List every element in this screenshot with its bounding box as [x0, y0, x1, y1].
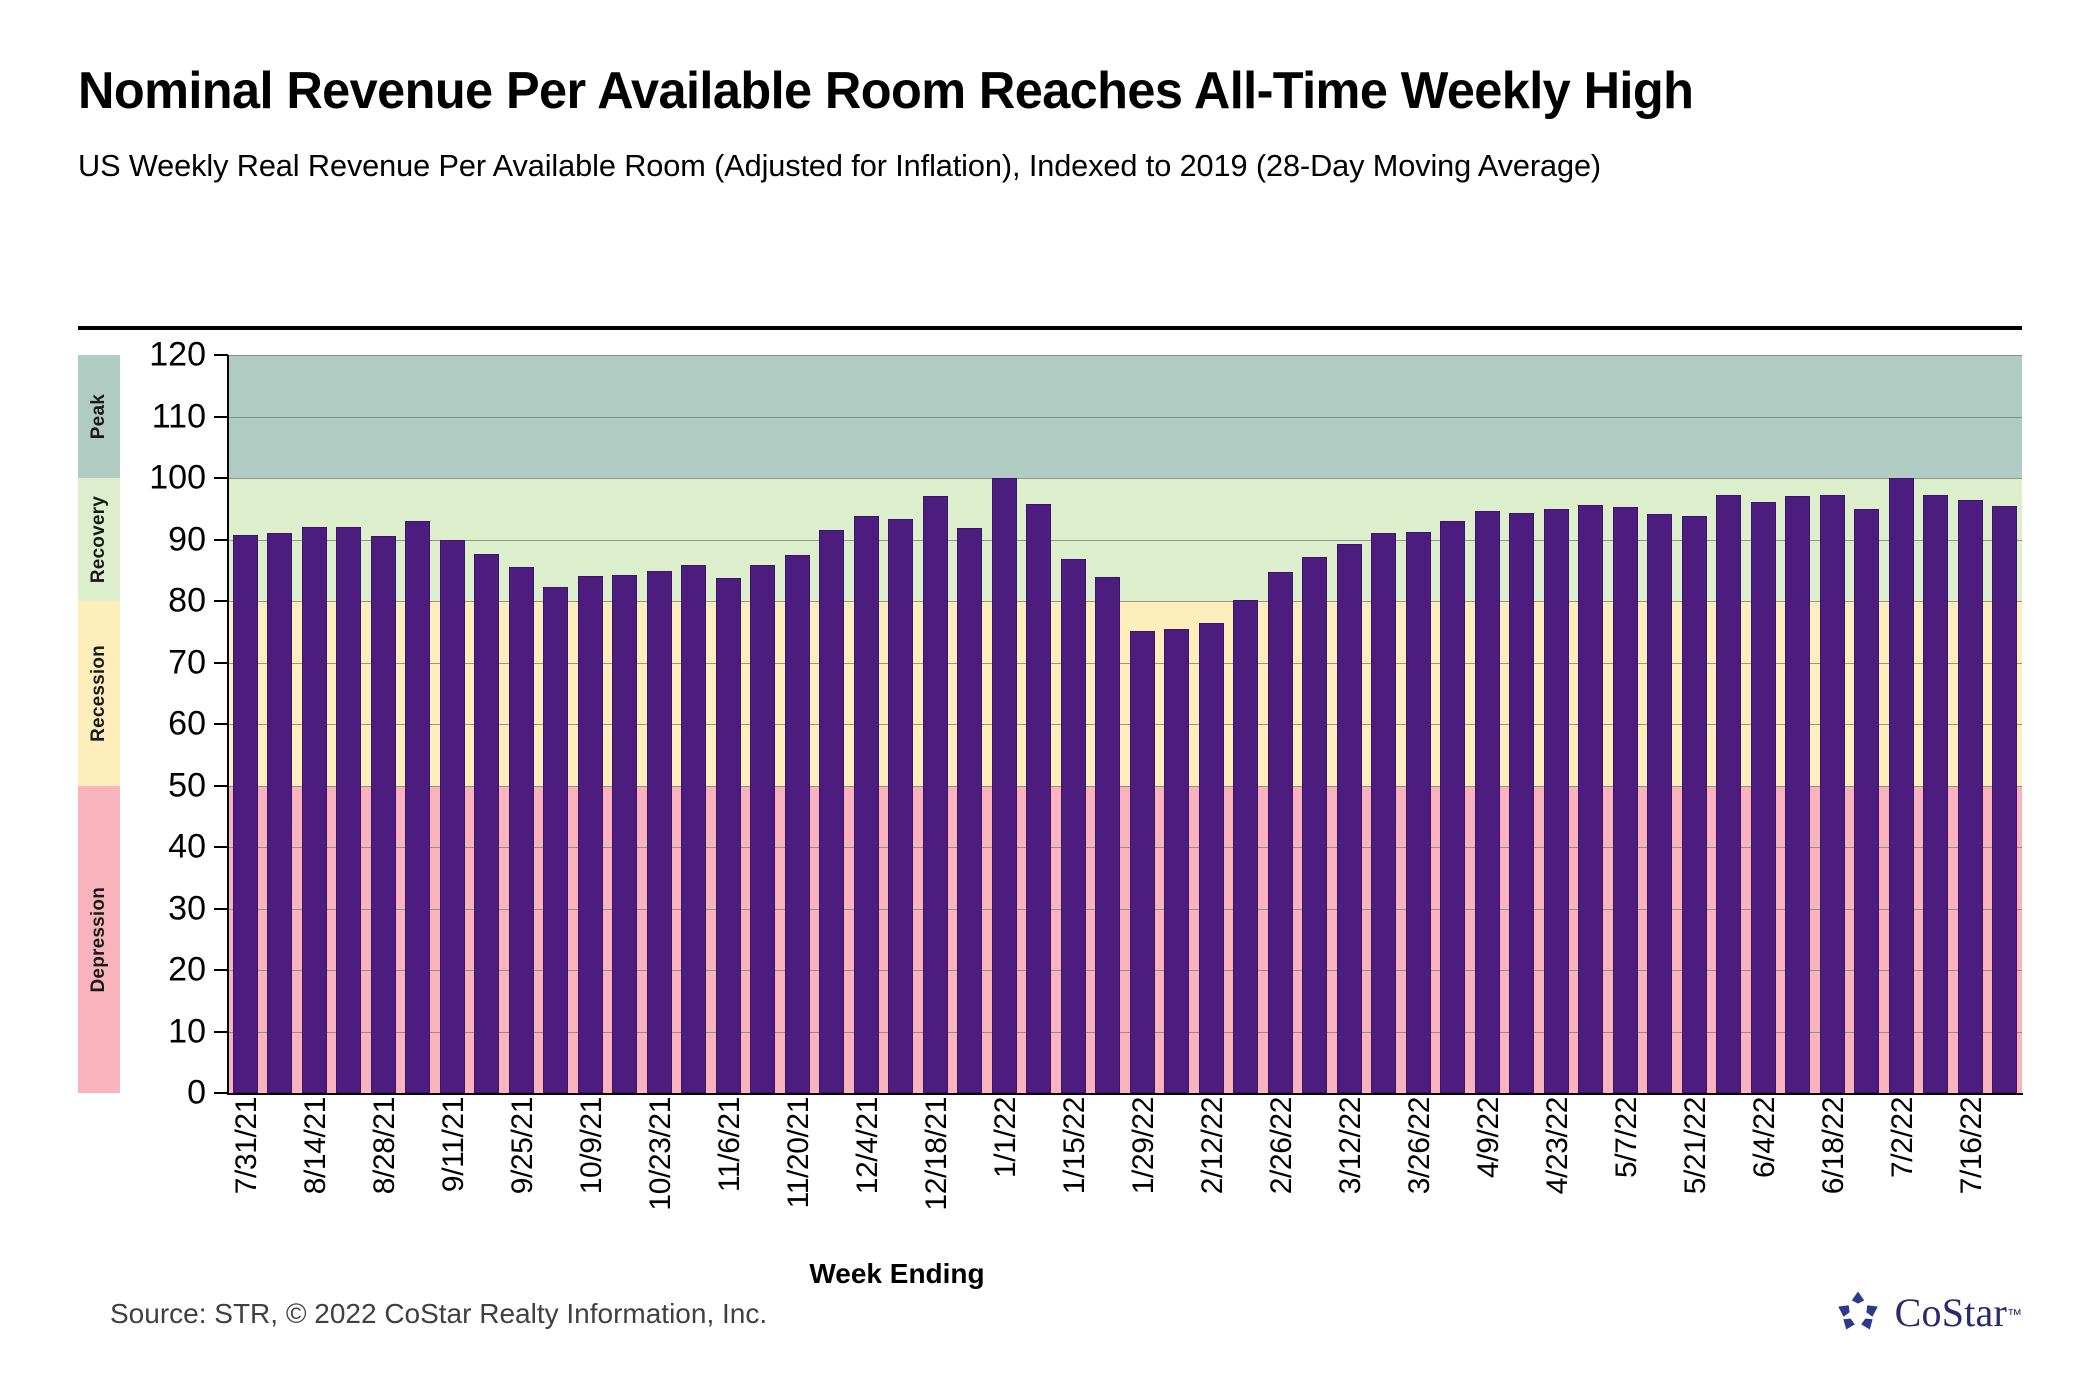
bar[interactable]: [1371, 533, 1396, 1093]
economic-zone-legend: Peak Recovery Recession Depression: [78, 355, 120, 1093]
trademark-symbol: ™: [2007, 1306, 2022, 1323]
bar[interactable]: [1509, 513, 1534, 1093]
zone-label-peak-text: Peak: [88, 394, 110, 439]
x-tick-label: 7/31/21: [230, 1097, 264, 1194]
bar[interactable]: [543, 587, 568, 1093]
x-tick-label: 9/25/21: [506, 1097, 540, 1194]
y-tick-mark: [214, 416, 228, 418]
x-tick-label: 5/7/22: [1610, 1097, 1644, 1178]
bar[interactable]: [1268, 572, 1293, 1093]
y-tick-label: 50: [168, 766, 206, 805]
bar[interactable]: [1475, 511, 1500, 1093]
bar[interactable]: [1716, 495, 1741, 1093]
x-tick-label: 10/9/21: [575, 1097, 609, 1194]
y-tick-mark: [214, 969, 228, 971]
y-tick-mark: [214, 354, 228, 356]
y-axis-line: [227, 355, 229, 1093]
costar-logo-icon: [1834, 1288, 1882, 1336]
bar[interactable]: [1751, 502, 1776, 1093]
bar[interactable]: [1199, 623, 1224, 1093]
bar[interactable]: [1820, 495, 1845, 1093]
x-tick-label: 8/28/21: [368, 1097, 402, 1194]
plot-area: [228, 355, 2022, 1093]
x-tick-label: 7/16/22: [1955, 1097, 1989, 1194]
y-tick-label: 40: [168, 828, 206, 867]
y-tick-mark: [214, 1031, 228, 1033]
bar[interactable]: [336, 527, 361, 1093]
bar[interactable]: [1992, 506, 2017, 1093]
bar[interactable]: [1923, 495, 1948, 1093]
x-tick-label: 3/26/22: [1403, 1097, 1437, 1194]
costar-wordmark: CoStar: [1895, 1290, 2007, 1335]
y-tick-mark: [214, 785, 228, 787]
y-tick-label: 80: [168, 582, 206, 621]
bar[interactable]: [1613, 507, 1638, 1093]
bar[interactable]: [1958, 500, 1983, 1093]
x-tick-label: 2/26/22: [1265, 1097, 1299, 1194]
bar[interactable]: [1647, 514, 1672, 1093]
y-tick-label: 120: [149, 336, 206, 375]
x-tick-label: 4/9/22: [1472, 1097, 1506, 1178]
bar[interactable]: [578, 576, 603, 1093]
y-tick-label: 110: [152, 397, 206, 436]
bar[interactable]: [233, 535, 258, 1093]
bar-series: [228, 355, 2022, 1093]
x-tick-label: 7/2/22: [1886, 1097, 1920, 1178]
chart-page: Nominal Revenue Per Available Room Reach…: [0, 0, 2100, 1400]
bar[interactable]: [1130, 631, 1155, 1093]
bar[interactable]: [440, 540, 465, 1094]
x-tick-label: 11/6/21: [713, 1097, 747, 1192]
x-tick-label: 3/12/22: [1334, 1097, 1368, 1194]
x-tick-label: 12/4/21: [851, 1097, 885, 1194]
y-tick-label: 10: [168, 1012, 206, 1051]
bar[interactable]: [1337, 544, 1362, 1093]
y-tick-label: 30: [168, 889, 206, 928]
x-tick-label: 1/29/22: [1127, 1097, 1161, 1194]
y-tick-label: 70: [168, 643, 206, 682]
x-tick-label: 10/23/21: [644, 1097, 678, 1211]
bar[interactable]: [1061, 559, 1086, 1093]
bar[interactable]: [1406, 532, 1431, 1093]
bar[interactable]: [647, 571, 672, 1093]
y-tick-label: 0: [187, 1074, 206, 1113]
y-tick-mark: [214, 600, 228, 602]
zone-label-recession-text: Recession: [88, 645, 110, 742]
x-tick-label: 5/21/22: [1679, 1097, 1713, 1194]
x-tick-label: 11/20/21: [782, 1097, 816, 1208]
x-axis-line: [227, 1093, 2023, 1095]
bar[interactable]: [1095, 577, 1120, 1093]
y-tick-label: 20: [168, 951, 206, 990]
bar[interactable]: [1026, 504, 1051, 1093]
y-tick-label: 60: [168, 705, 206, 744]
x-tick-label: 9/11/21: [437, 1097, 471, 1192]
zone-label-recovery-text: Recovery: [88, 496, 110, 583]
bar[interactable]: [509, 567, 534, 1093]
chart-subtitle: US Weekly Real Revenue Per Available Roo…: [78, 148, 2038, 184]
bar[interactable]: [1233, 600, 1258, 1093]
y-tick-mark: [214, 908, 228, 910]
x-tick-label: 6/4/22: [1748, 1097, 1782, 1178]
y-tick-mark: [214, 539, 228, 541]
bar[interactable]: [267, 533, 292, 1093]
y-tick-mark: [214, 477, 228, 479]
x-tick-label: 4/23/22: [1541, 1097, 1575, 1194]
bar[interactable]: [923, 496, 948, 1093]
bar[interactable]: [888, 519, 913, 1093]
bar[interactable]: [1440, 521, 1465, 1093]
bar[interactable]: [819, 530, 844, 1093]
costar-logo: CoStar™: [1834, 1288, 2022, 1336]
bar[interactable]: [750, 565, 775, 1093]
zone-label-recession: Recession: [78, 601, 120, 786]
zone-label-recovery: Recovery: [78, 478, 120, 601]
y-tick-mark: [214, 723, 228, 725]
x-tick-label: 12/18/21: [920, 1097, 954, 1211]
bar[interactable]: [1682, 516, 1707, 1093]
bar[interactable]: [992, 478, 1017, 1093]
bar[interactable]: [1889, 478, 1914, 1093]
x-tick-label: 1/15/22: [1058, 1097, 1092, 1194]
bar[interactable]: [681, 565, 706, 1093]
bar[interactable]: [612, 575, 637, 1093]
page-title: Nominal Revenue Per Available Room Reach…: [78, 62, 1960, 120]
bar[interactable]: [371, 536, 396, 1093]
header-divider: [78, 326, 2022, 330]
x-tick-label: 2/12/22: [1196, 1097, 1230, 1194]
bar[interactable]: [1785, 496, 1810, 1093]
bar[interactable]: [716, 578, 741, 1093]
bar[interactable]: [1302, 557, 1327, 1093]
bar[interactable]: [1578, 505, 1603, 1093]
bar[interactable]: [474, 554, 499, 1093]
y-tick-label: 90: [168, 520, 206, 559]
zone-label-depression-text: Depression: [88, 887, 110, 992]
y-tick-mark: [214, 846, 228, 848]
bar[interactable]: [1854, 509, 1879, 1093]
bar[interactable]: [302, 527, 327, 1093]
costar-logo-text: CoStar™: [1895, 1289, 2022, 1336]
bar[interactable]: [957, 528, 982, 1093]
bar[interactable]: [405, 521, 430, 1093]
zone-label-peak: Peak: [78, 355, 120, 478]
y-tick-mark: [214, 1092, 228, 1094]
bar[interactable]: [785, 555, 810, 1093]
zone-label-depression: Depression: [78, 786, 120, 1094]
x-tick-label: 6/18/22: [1817, 1097, 1851, 1194]
chart-header: Nominal Revenue Per Available Room Reach…: [78, 62, 2058, 184]
y-tick-label: 100: [149, 459, 206, 498]
y-axis: 0102030405060708090100110120: [120, 355, 228, 1093]
x-tick-label: 1/1/22: [989, 1097, 1023, 1178]
bar[interactable]: [1164, 629, 1189, 1093]
bar[interactable]: [1544, 509, 1569, 1093]
y-tick-mark: [214, 662, 228, 664]
source-note: Source: STR, © 2022 CoStar Realty Inform…: [110, 1298, 767, 1330]
bar[interactable]: [854, 516, 879, 1093]
x-axis-title: Week Ending: [0, 1258, 1794, 1290]
x-tick-label: 8/14/21: [299, 1097, 333, 1194]
